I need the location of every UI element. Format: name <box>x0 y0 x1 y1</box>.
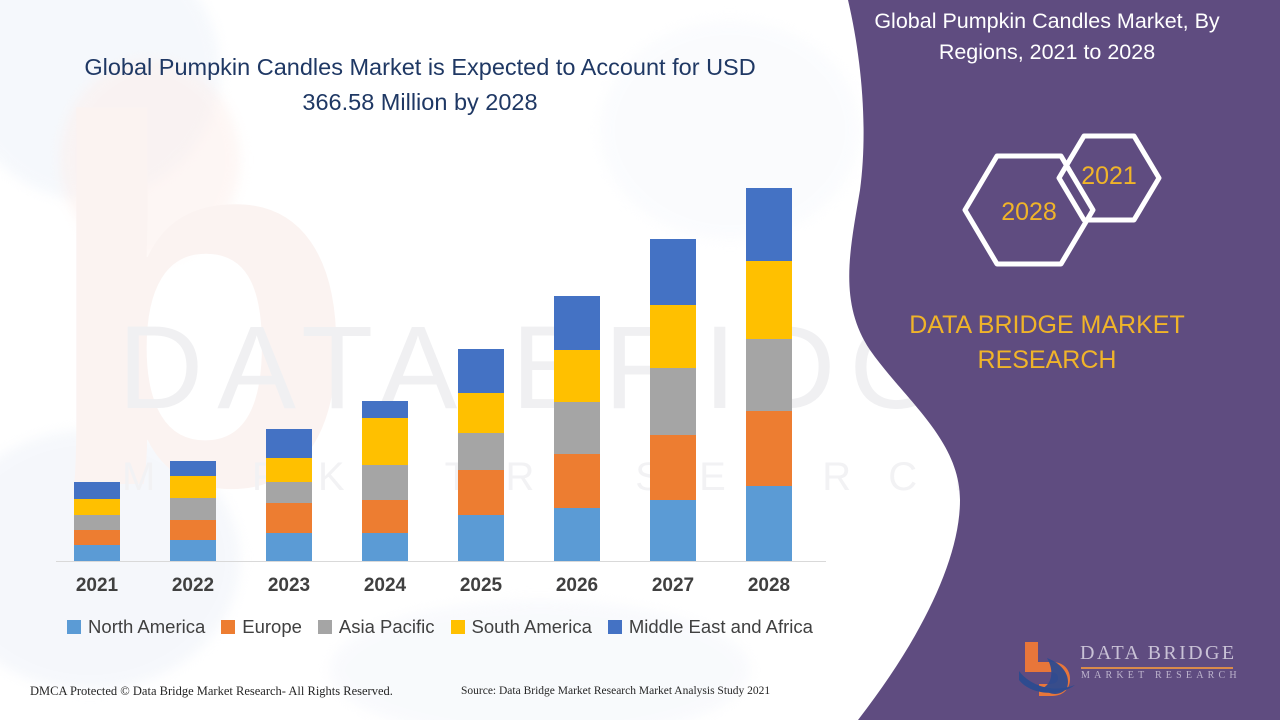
x-axis-label-2024: 2024 <box>337 575 433 597</box>
bar-stack-2028[interactable] <box>746 188 792 561</box>
brand-name-line-1: DATA BRIDGE MARKET <box>838 308 1256 343</box>
bar-stack-2025[interactable] <box>458 349 504 561</box>
legend-item[interactable]: Middle East and Africa <box>608 616 813 638</box>
x-axis-label-2023: 2023 <box>241 575 337 597</box>
bar-segment[interactable] <box>554 402 600 454</box>
bar-segment[interactable] <box>746 339 792 411</box>
legend-swatch-icon <box>67 620 81 634</box>
hexagon-badges: 2028 2021 <box>810 130 1280 300</box>
legend-label: North America <box>88 616 205 638</box>
bar-segment[interactable] <box>554 296 600 350</box>
bar-segment[interactable] <box>650 368 696 435</box>
bar-segment[interactable] <box>650 500 696 561</box>
bar-segment[interactable] <box>746 411 792 486</box>
bar-segment[interactable] <box>266 482 312 503</box>
legend-item[interactable]: Asia Pacific <box>318 616 435 638</box>
x-axis-line <box>56 561 826 563</box>
logo-divider <box>1081 667 1233 669</box>
bar-stack-2027[interactable] <box>650 239 696 561</box>
brand-panel: Global Pumpkin Candles Market, By Region… <box>810 0 1280 720</box>
x-axis-label-2028: 2028 <box>721 575 817 597</box>
bar-segment[interactable] <box>362 418 408 465</box>
bar-series-container <box>50 161 825 561</box>
legend-item[interactable]: North America <box>67 616 205 638</box>
infographic-canvas: b DATA BRIDGE M A R K E T R E S E A R C … <box>0 0 1280 720</box>
chart-legend: North AmericaEuropeAsia PacificSouth Ame… <box>55 614 825 640</box>
bar-segment[interactable] <box>746 261 792 339</box>
footer-copyright: DMCA Protected © Data Bridge Market Rese… <box>30 684 393 699</box>
bar-segment[interactable] <box>650 305 696 368</box>
legend-item[interactable]: Europe <box>221 616 302 638</box>
legend-swatch-icon <box>221 620 235 634</box>
hexagon-2021-label: 2021 <box>1049 162 1169 191</box>
hexagon-2028-label: 2028 <box>969 198 1089 227</box>
stacked-bar-chart <box>50 150 825 562</box>
bar-segment[interactable] <box>362 401 408 418</box>
footer-source: Source: Data Bridge Market Research Mark… <box>461 685 770 697</box>
bar-segment[interactable] <box>74 499 120 515</box>
legend-label: South America <box>472 616 592 638</box>
bar-segment[interactable] <box>170 461 216 476</box>
legend-swatch-icon <box>608 620 622 634</box>
bar-segment[interactable] <box>266 429 312 458</box>
bar-segment[interactable] <box>458 515 504 561</box>
bar-segment[interactable] <box>458 433 504 470</box>
bar-segment[interactable] <box>362 465 408 500</box>
bar-segment[interactable] <box>266 458 312 482</box>
legend-swatch-icon <box>451 620 465 634</box>
bar-segment[interactable] <box>170 476 216 498</box>
bar-stack-2023[interactable] <box>266 429 312 561</box>
bar-segment[interactable] <box>362 533 408 561</box>
logo-b-icon <box>1017 638 1079 698</box>
bar-segment[interactable] <box>170 498 216 520</box>
bar-segment[interactable] <box>266 533 312 561</box>
bar-segment[interactable] <box>458 470 504 515</box>
bar-segment[interactable] <box>74 515 120 530</box>
bar-segment[interactable] <box>554 508 600 561</box>
panel-title: Global Pumpkin Candles Market, By Region… <box>838 6 1256 68</box>
bar-stack-2021[interactable] <box>74 482 120 561</box>
company-logo: DATA BRIDGE MARKET RESEARCH <box>1017 638 1257 700</box>
brand-name: DATA BRIDGE MARKET RESEARCH <box>838 308 1256 378</box>
legend-swatch-icon <box>318 620 332 634</box>
x-axis-label-2027: 2027 <box>625 575 721 597</box>
legend-label: Middle East and Africa <box>629 616 813 638</box>
bar-segment[interactable] <box>554 350 600 402</box>
x-axis-labels: 20212022202320242025202620272028 <box>50 575 825 603</box>
x-axis-label-2021: 2021 <box>49 575 145 597</box>
brand-name-line-2: RESEARCH <box>838 343 1256 378</box>
bar-segment[interactable] <box>74 482 120 499</box>
page-title: Global Pumpkin Candles Market is Expecte… <box>50 50 790 120</box>
bar-segment[interactable] <box>170 520 216 540</box>
bar-stack-2026[interactable] <box>554 296 600 561</box>
logo-secondary-text: MARKET RESEARCH <box>1081 670 1241 681</box>
bar-segment[interactable] <box>458 393 504 433</box>
bar-segment[interactable] <box>362 500 408 533</box>
bar-segment[interactable] <box>170 540 216 561</box>
bar-segment[interactable] <box>746 188 792 261</box>
logo-primary-text: DATA BRIDGE <box>1080 642 1236 665</box>
bar-segment[interactable] <box>74 530 120 545</box>
bar-segment[interactable] <box>650 239 696 305</box>
bar-segment[interactable] <box>746 486 792 561</box>
x-axis-label-2022: 2022 <box>145 575 241 597</box>
x-axis-label-2026: 2026 <box>529 575 625 597</box>
bar-segment[interactable] <box>74 545 120 561</box>
bar-segment[interactable] <box>650 435 696 500</box>
legend-item[interactable]: South America <box>451 616 592 638</box>
bar-stack-2024[interactable] <box>362 401 408 561</box>
bar-segment[interactable] <box>458 349 504 393</box>
legend-label: Europe <box>242 616 302 638</box>
bar-stack-2022[interactable] <box>170 461 216 561</box>
x-axis-label-2025: 2025 <box>433 575 529 597</box>
bar-segment[interactable] <box>554 454 600 508</box>
bar-segment[interactable] <box>266 503 312 533</box>
legend-label: Asia Pacific <box>339 616 435 638</box>
